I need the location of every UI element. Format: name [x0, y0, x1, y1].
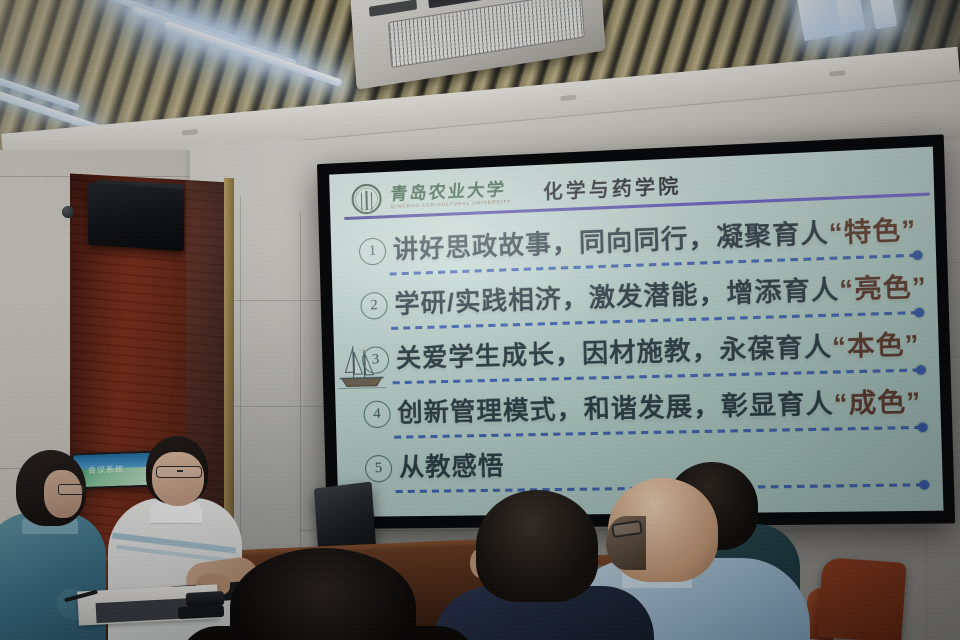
eyeglasses-icon: [58, 484, 84, 495]
item-number: 2: [360, 292, 388, 320]
item-quoted-text: “亮色”: [839, 272, 927, 304]
wall-tile-seam: [232, 300, 328, 301]
item-number: 1: [359, 237, 387, 265]
item-end-dot: [916, 365, 926, 375]
ac-intake-grille: [388, 0, 585, 68]
remote-control-on-table: [178, 605, 225, 619]
eyeglasses-icon: [156, 466, 202, 478]
item-main-text: 讲好思政故事，同向同行，凝聚育人: [393, 219, 830, 264]
slide-list-item: 4 创新管理模式，和谐发展，彰显育人“成色”: [363, 383, 930, 450]
item-text: 从教感悟: [399, 448, 506, 486]
item-end-dot: [914, 308, 924, 318]
conference-room-photo: 青岛农业大学 QINGDAO AGRICULTURAL UNIVERSITY 化…: [0, 0, 960, 640]
item-text: 讲好思政故事，同向同行，凝聚育人“特色”: [393, 211, 917, 268]
item-quoted-text: “成色”: [834, 388, 922, 419]
person-navy-shirt-head: [476, 490, 598, 602]
wall-mounted-display[interactable]: 青岛农业大学 QINGDAO AGRICULTURAL UNIVERSITY 化…: [317, 134, 955, 529]
wall-tile-seam: [232, 406, 328, 407]
university-name-chinese: 青岛农业大学: [390, 180, 512, 203]
item-end-dot: [912, 250, 922, 260]
university-seal-icon: [351, 183, 382, 214]
slide-body: 1 讲好思政故事，同向同行，凝聚育人“特色” 2 学研/实践相济，激发潜能，增添…: [330, 196, 943, 505]
wooden-conference-chair: [817, 557, 906, 640]
item-number: 3: [362, 346, 390, 374]
item-quoted-text: “本色”: [832, 330, 920, 362]
item-main-text: 创新管理模式，和谐发展，彰显育人: [397, 390, 834, 428]
aux-monitor-caption: 会议系统: [88, 464, 124, 476]
item-number: 4: [363, 400, 391, 428]
item-end-dot: [919, 480, 929, 490]
item-main-text: 从教感悟: [399, 452, 505, 482]
item-main-text: 关爱学生成长，因材施教，永葆育人: [396, 333, 833, 374]
item-number: 5: [365, 455, 393, 483]
person-man-face: [152, 452, 204, 506]
ac-side-vent: [369, 0, 417, 17]
ceiling-dome-sensor-icon: [62, 206, 74, 218]
university-name-block: 青岛农业大学 QINGDAO AGRICULTURAL UNIVERSITY: [390, 180, 511, 209]
wall-mounted-speaker: [88, 183, 184, 252]
department-name: 化学与药学院: [543, 171, 682, 205]
presentation-slide: 青岛农业大学 QINGDAO AGRICULTURAL UNIVERSITY 化…: [329, 147, 943, 517]
item-end-dot: [917, 423, 927, 433]
item-quoted-text: “特色”: [829, 215, 917, 248]
